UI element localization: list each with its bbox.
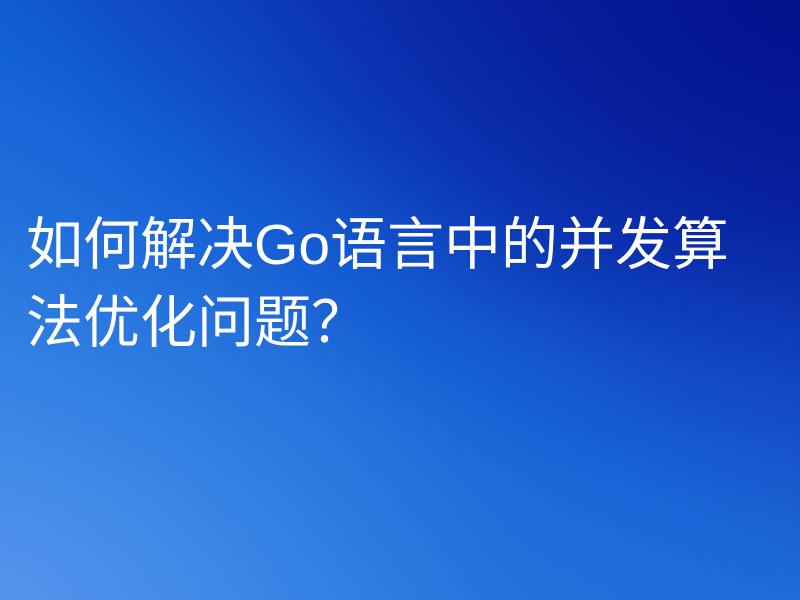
gradient-overlay-bottom-left: [0, 0, 800, 600]
gradient-overlay-top-right: [0, 0, 800, 600]
gradient-overlay-bottom-right: [0, 0, 800, 600]
headline-container: 如何解决Go语言中的并发算法优化问题？: [26, 206, 786, 362]
title-card: 如何解决Go语言中的并发算法优化问题？: [0, 0, 800, 600]
page-title: 如何解决Go语言中的并发算法优化问题？: [26, 206, 786, 362]
